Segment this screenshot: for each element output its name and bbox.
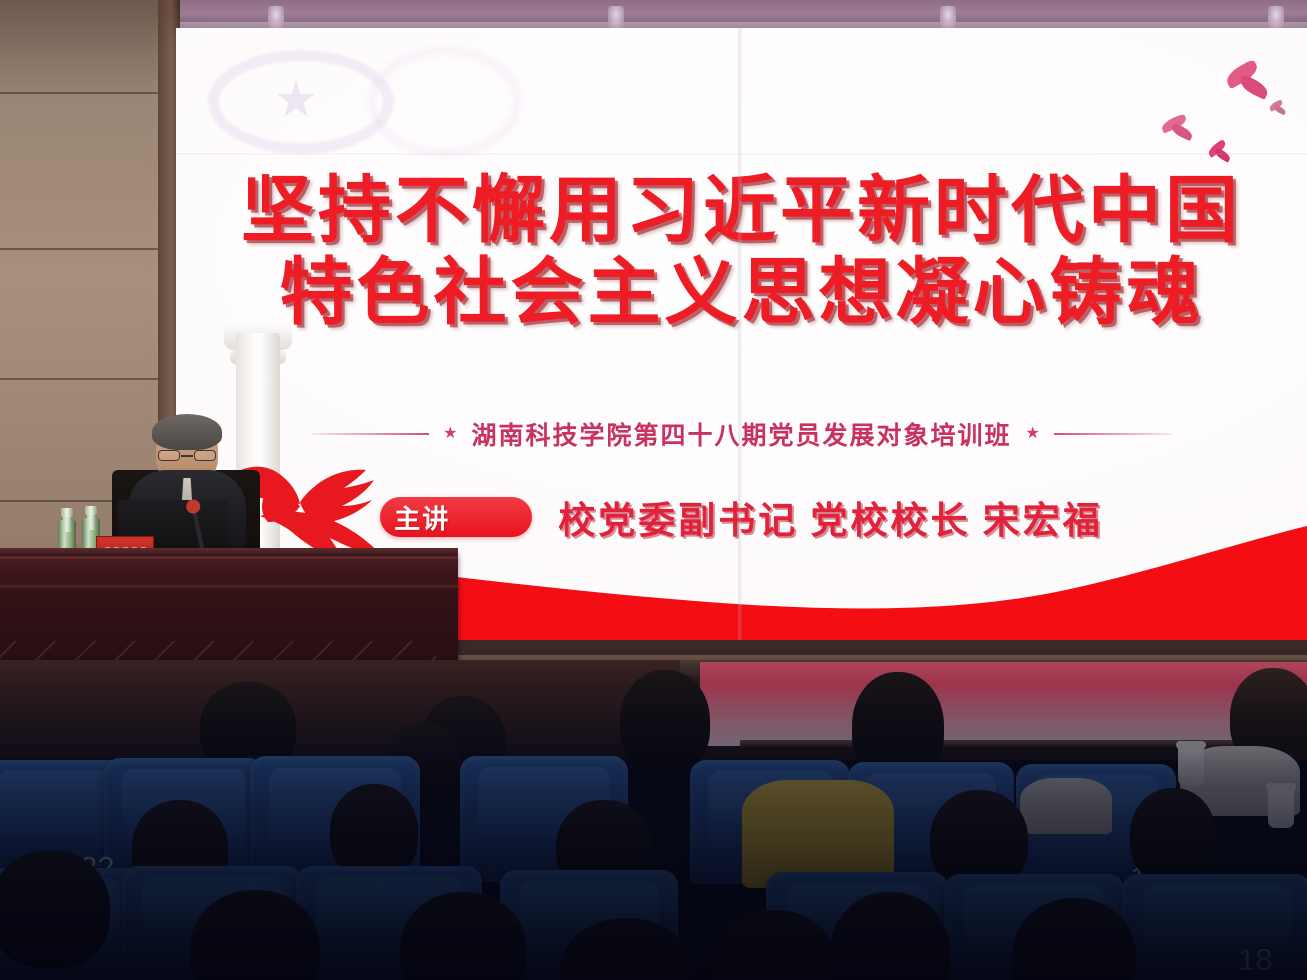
star-icon: ★: [443, 426, 457, 442]
ceiling-light-icon: [268, 6, 284, 28]
ceiling-light-icon: [940, 6, 956, 28]
ceiling-light-icon: [1268, 6, 1284, 28]
slide-title: 坚持不懈用习近平新时代中国 特色社会主义思想凝心铸魂: [176, 170, 1307, 335]
slide-title-line1: 坚持不懈用习近平新时代中国: [176, 170, 1307, 252]
slide-subtitle-row: ★ 湖南科技学院第四十八期党员发展对象培训班 ★: [176, 416, 1307, 452]
eyeglasses-icon: [158, 450, 216, 461]
slide-subtitle: 湖南科技学院第四十八期党员发展对象培训班: [471, 416, 1011, 452]
presenter-hair: [152, 414, 222, 450]
star-icon: ★: [1026, 426, 1040, 442]
subtitle-rule-left: [311, 433, 429, 435]
subtitle-rule-right: [1054, 433, 1172, 435]
flying-birds-icon: [1145, 62, 1285, 172]
party-emblem-watermark-icon: [200, 42, 530, 160]
audience-area: 22 1 1 20 18: [0, 660, 1307, 980]
audience-shadow-overlay: [0, 660, 1307, 980]
ceiling-light-icon: [608, 6, 624, 28]
slide-title-line2: 特色社会主义思想凝心铸魂: [176, 252, 1307, 334]
lecture-hall-scene: 坚持不懈用习近平新时代中国 特色社会主义思想凝心铸魂 ★ 湖南科技学院第四十八期…: [0, 0, 1307, 980]
